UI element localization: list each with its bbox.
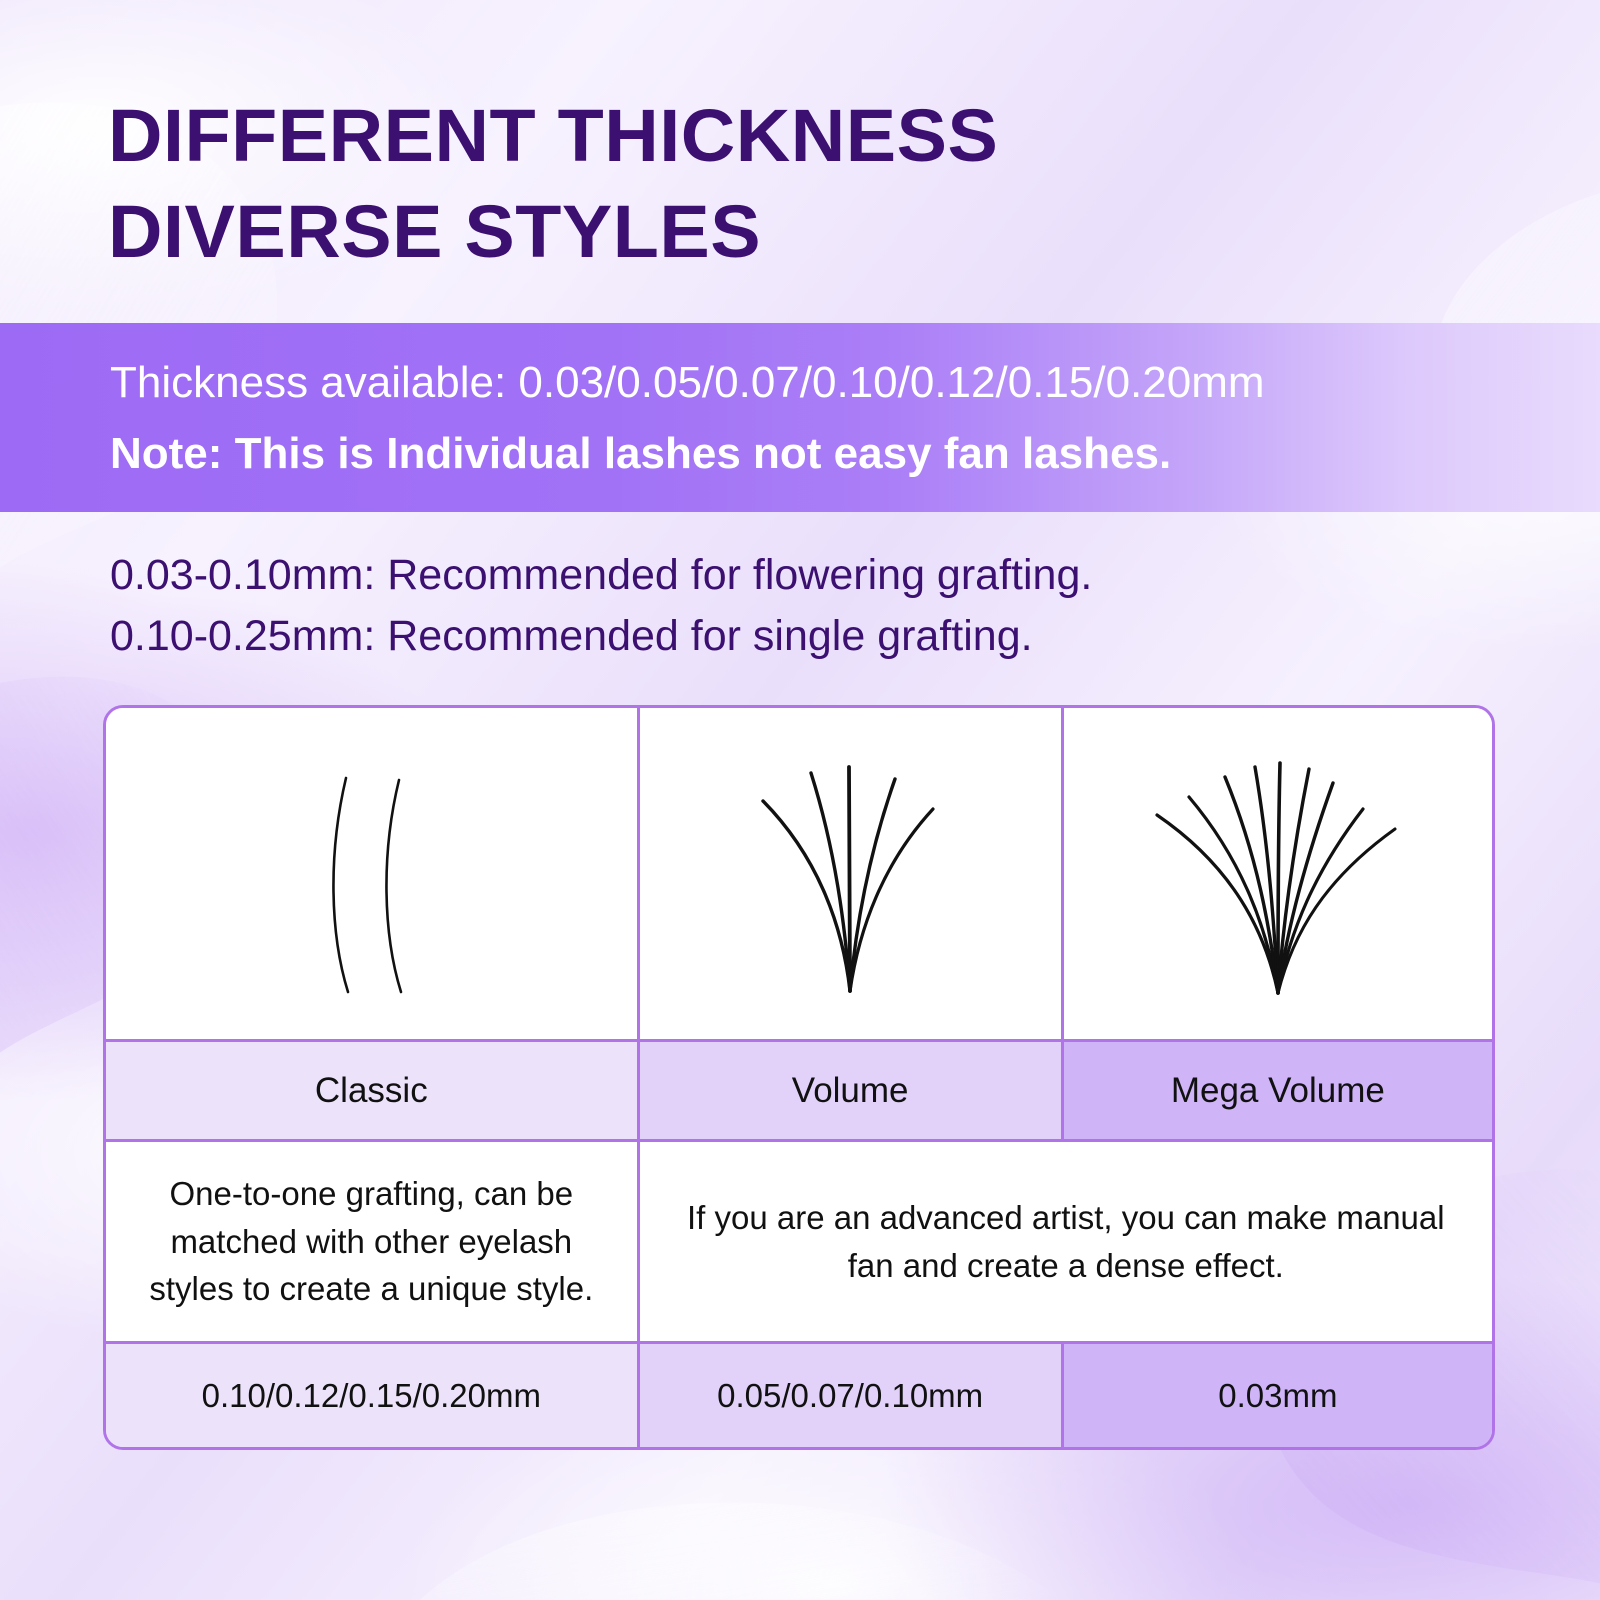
mega-volume-fan-cell <box>1064 708 1492 1042</box>
table-row-style-labels: Classic Volume Mega Volume <box>106 1042 1492 1142</box>
volume-fan-cell <box>640 708 1064 1042</box>
thickness-classic: 0.10/0.12/0.15/0.20mm <box>106 1344 640 1447</box>
table-row-illustrations <box>106 708 1492 1042</box>
style-label-classic: Classic <box>106 1042 640 1142</box>
banner-note-text: Note: This is Individual lashes not easy… <box>110 424 1600 485</box>
classic-lash-cell <box>106 708 640 1042</box>
page-title-line-2: DIVERSE STYLES <box>108 184 1312 280</box>
style-label-volume: Volume <box>640 1042 1064 1142</box>
classic-lash-icon <box>256 744 486 1004</box>
page-title-line-1: DIFFERENT THICKNESS <box>108 88 1312 184</box>
thickness-available-text: Thickness available: 0.03/0.05/0.07/0.10… <box>110 353 1600 414</box>
recommendation-block: 0.03-0.10mm: Recommended for flowering g… <box>110 545 1410 667</box>
thickness-banner: Thickness available: 0.03/0.05/0.07/0.10… <box>0 323 1600 512</box>
table-row-thickness-values: 0.10/0.12/0.15/0.20mm 0.05/0.07/0.10mm 0… <box>106 1344 1492 1447</box>
thickness-mega-volume: 0.03mm <box>1064 1344 1492 1447</box>
description-classic: One-to-one grafting, can be matched with… <box>106 1142 640 1344</box>
mega-volume-fan-icon <box>1133 749 1423 999</box>
description-volume-mega-merged: If you are an advanced artist, you can m… <box>640 1142 1492 1344</box>
lash-style-comparison-table: Classic Volume Mega Volume One-to-one gr… <box>103 705 1495 1450</box>
thickness-volume: 0.05/0.07/0.10mm <box>640 1344 1064 1447</box>
recommendation-line-2: 0.10-0.25mm: Recommended for single graf… <box>110 606 1410 667</box>
recommendation-line-1: 0.03-0.10mm: Recommended for flowering g… <box>110 545 1410 606</box>
volume-fan-icon <box>725 749 975 999</box>
page-title: DIFFERENT THICKNESS DIVERSE STYLES <box>108 88 1288 280</box>
table-row-descriptions: One-to-one grafting, can be matched with… <box>106 1142 1492 1344</box>
style-label-mega-volume: Mega Volume <box>1064 1042 1492 1142</box>
